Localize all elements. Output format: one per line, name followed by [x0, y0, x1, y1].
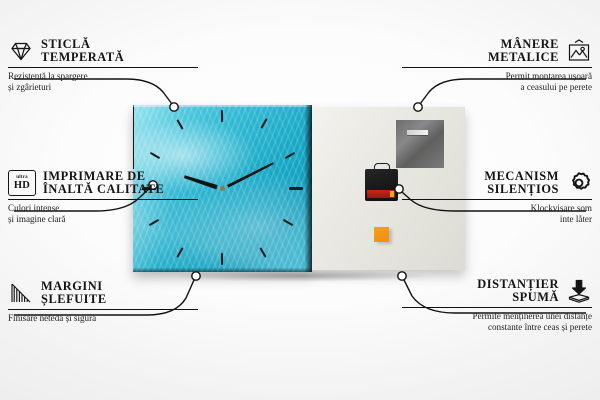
metal-hanger-plate: [396, 120, 444, 168]
hanger-slot: [407, 130, 428, 135]
gear-icon: [566, 170, 592, 196]
feature-divider: [402, 199, 592, 200]
feature-divider: [402, 67, 592, 68]
feature-subtitle: Permit montarea ușoară a ceasului pe per…: [402, 71, 592, 94]
feature-subtitle: Klockvisare som inte låter: [402, 203, 592, 226]
feature-divider: [8, 67, 198, 68]
press-down-layer-icon: [566, 278, 592, 304]
feature-heading: DISTANȚIER SPUMĂ: [402, 278, 592, 304]
picture-frame-hanger-icon: [566, 38, 592, 64]
feature-divider: [402, 307, 592, 308]
glass-top-edge: [133, 105, 312, 107]
diamond-icon: [8, 38, 34, 64]
feature-heading: ultra HD IMPRIMARE DE ÎNALTĂ CALITATE: [8, 170, 198, 196]
ultra-hd-badge-icon: ultra HD: [8, 170, 36, 196]
badge-hd-label: HD: [14, 181, 30, 192]
battery: [367, 190, 395, 198]
feature-divider: [8, 199, 198, 200]
feature-subtitle: Culori intense și imagine clară: [8, 203, 198, 226]
feature-foam-spacer[interactable]: DISTANȚIER SPUMĂ Permite menținerea unei…: [402, 278, 592, 334]
polished-edge-icon: [8, 280, 34, 306]
feature-tempered-glass[interactable]: STICLĂ TEMPERATĂ Rezistentă la spargere …: [8, 38, 198, 94]
feature-title: IMPRIMARE DE ÎNALTĂ CALITATE: [43, 170, 164, 196]
feature-silent-movement[interactable]: MECANISM SILENȚIOS Klockvisare som inte …: [402, 170, 592, 226]
clock-mechanism: [365, 169, 398, 201]
mechanism-hanging-loop: [374, 163, 390, 172]
feature-title: MÂNERE METALICE: [488, 38, 559, 64]
clock-hand-cap: [220, 186, 225, 191]
feature-high-quality-print[interactable]: ultra HD IMPRIMARE DE ÎNALTĂ CALITATE Cu…: [8, 170, 198, 226]
feature-metal-handles[interactable]: MÂNERE METALICE Permit montarea ușoară a…: [402, 38, 592, 94]
feature-title: MARGINI ȘLEFUITE: [41, 280, 107, 306]
feature-subtitle: Rezistentă la spargere și zgârieturi: [8, 71, 198, 94]
feature-heading: STICLĂ TEMPERATĂ: [8, 38, 198, 64]
feature-polished-edges[interactable]: MARGINI ȘLEFUITE Finisare netedă și sigu…: [8, 280, 198, 324]
feature-title: MECANISM SILENȚIOS: [484, 170, 559, 196]
feature-title: STICLĂ TEMPERATĂ: [41, 38, 124, 64]
feature-title: DISTANȚIER SPUMĂ: [477, 278, 559, 304]
feature-subtitle: Permite menținerea unei distanțe constan…: [402, 311, 592, 334]
feature-heading: MECANISM SILENȚIOS: [402, 170, 592, 196]
clock-minute-hand: [222, 161, 274, 190]
glass-bottom-edge: [133, 268, 312, 272]
foam-spacer: [374, 227, 389, 242]
feature-heading: MÂNERE METALICE: [402, 38, 592, 64]
feature-heading: MARGINI ȘLEFUITE: [8, 280, 198, 306]
feature-subtitle: Finisare netedă și sigură: [8, 313, 198, 324]
glass-right-edge: [305, 105, 312, 272]
clock-second-hand: [133, 105, 134, 169]
infographic-canvas: STICLĂ TEMPERATĂ Rezistentă la spargere …: [0, 0, 600, 400]
feature-divider: [8, 309, 198, 310]
